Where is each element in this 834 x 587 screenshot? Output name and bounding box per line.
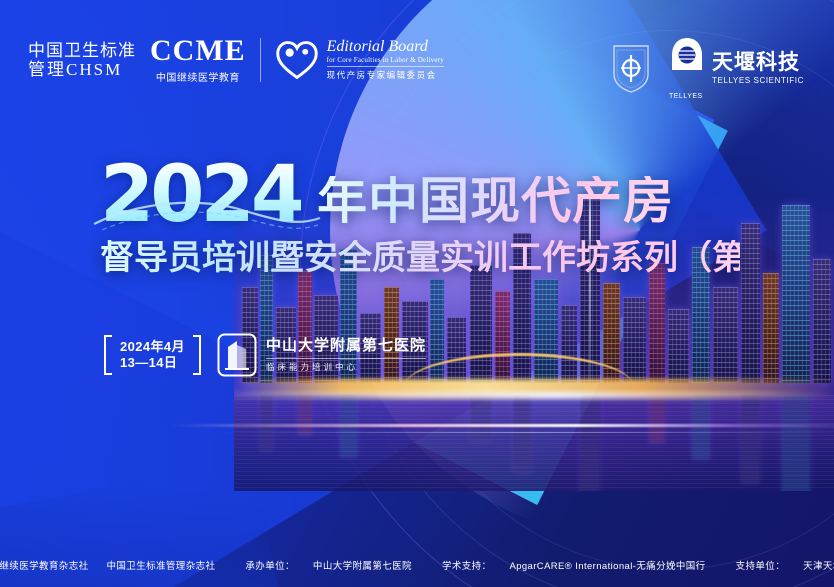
editorial-board-title: Editorial Board	[327, 39, 444, 56]
logo-tellyes: TELLYES 天堰科技 TELLYES SCIENTIFIC	[669, 36, 804, 100]
title-row-primary: 2024 年中国现代产房	[100, 160, 740, 230]
footer-support: 天津天堰科技股份有限公司	[794, 558, 834, 572]
logo-divider	[260, 38, 261, 82]
editorial-board-text: Editorial Board for Core Faculties in La…	[327, 39, 444, 81]
event-venue: 中山大学附属第七医院 临床能力培训中心	[217, 333, 426, 377]
sponsor-logo-bar: 中国卫生标准 管理CHSM CCME 中国继续医学教育 Editorial Bo…	[0, 0, 834, 118]
event-date-line-1: 2024年4月	[120, 339, 185, 355]
logo-ccme: CCME 中国继续医学教育	[150, 36, 246, 84]
chsm-line-2: 管理CHSM	[28, 60, 136, 79]
light-streak-thin	[220, 432, 834, 433]
tellyes-text: 天堰科技 TELLYES SCIENTIFIC	[712, 52, 804, 85]
venue-name: 中山大学附属第七医院	[266, 337, 426, 355]
event-date: 2024年4月 13—14日	[104, 335, 201, 376]
heart-icon	[275, 38, 319, 82]
logo-chsm: 中国卫生标准 管理CHSM	[28, 41, 136, 79]
footer-academic: ApgarCARE® International-无痛分娩中国行	[500, 558, 714, 572]
year-number: 2024	[100, 160, 301, 230]
footer-support-label: 支持单位：	[727, 558, 795, 572]
bracket-left-icon	[104, 335, 112, 376]
shoreline-glow	[234, 392, 834, 399]
poster-title-block: 2024 年中国现代产房 督导员培训暨安全质量实训工作坊系列（第一期）	[100, 160, 740, 278]
footer-host-label: 承办单位：	[236, 558, 304, 572]
ccme-abbr: CCME	[150, 36, 246, 66]
editorial-board-cn: 现代产房专家编辑委员会	[327, 66, 444, 81]
venue-text: 中山大学附属第七医院 临床能力培训中心	[266, 337, 426, 373]
logo-editorial-board: Editorial Board for Core Faculties in La…	[275, 38, 444, 82]
tellyes-mark-label: TELLYES	[669, 93, 705, 100]
logo-group-right: TELLYES 天堰科技 TELLYES SCIENTIFIC	[611, 36, 804, 100]
light-streak	[170, 424, 834, 427]
chsm-line-1: 中国卫生标准	[28, 41, 136, 60]
footer-organizer-2: 中国卫生标准管理杂志社	[98, 558, 225, 572]
venue-sub: 临床能力培训中心	[266, 358, 426, 373]
tellyes-mark-icon	[669, 36, 705, 74]
footer-host: 中山大学附属第七医院	[304, 558, 421, 572]
event-date-line-2: 13—14日	[120, 355, 185, 371]
water-reflection	[234, 395, 834, 491]
logo-group-left: 中国卫生标准 管理CHSM CCME 中国继续医学教育 Editorial Bo…	[28, 36, 444, 84]
poster-footer: 主办单位： 中国继续医学教育杂志社 中国卫生标准管理杂志社 承办单位： 中山大学…	[0, 543, 834, 587]
title-sub-text: 督导员培训暨安全质量实训工作坊系列（第一期）	[100, 240, 740, 277]
conference-poster: 中国卫生标准 管理CHSM CCME 中国继续医学教育 Editorial Bo…	[0, 0, 834, 587]
event-meta-block: 2024年4月 13—14日 中山大学附属第七医院 临床能力培训中心	[104, 333, 426, 377]
bracket-right-icon	[193, 335, 201, 376]
footer-organizer-1: 中国继续医学教育杂志社	[0, 558, 98, 572]
tellyes-cn: 天堰科技	[712, 52, 804, 73]
university-shield-icon	[611, 42, 651, 94]
title-main-text: 年中国现代产房	[317, 176, 674, 230]
footer-academic-label: 学术支持：	[433, 558, 501, 572]
hospital-building-icon	[217, 333, 257, 377]
ccme-cn: 中国继续医学教育	[150, 69, 246, 84]
tellyes-en: TELLYES SCIENTIFIC	[712, 76, 804, 85]
editorial-board-subtitle: for Core Faculties in Labor & Delivery	[327, 56, 444, 64]
